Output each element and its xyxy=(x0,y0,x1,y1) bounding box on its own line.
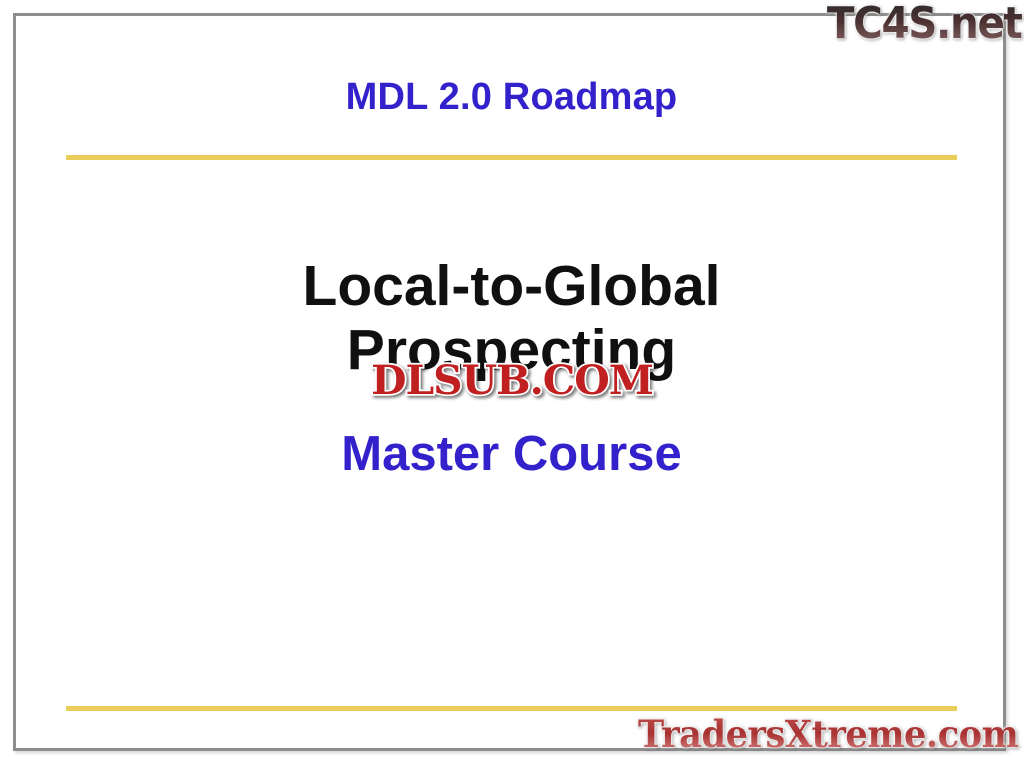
body-line-2: Prospecting xyxy=(66,319,957,383)
divider-rule-top xyxy=(66,155,957,160)
page-title: MDL 2.0 Roadmap xyxy=(66,76,957,119)
presentation-slide: MDL 2.0 Roadmap Local-to-Global Prospect… xyxy=(0,0,1024,768)
divider-rule-bottom xyxy=(66,706,957,711)
body-line-1: Local-to-Global xyxy=(66,255,957,319)
slide-body: Local-to-Global Prospecting Master Cours… xyxy=(66,255,957,482)
body-line-3: Master Course xyxy=(66,427,957,482)
